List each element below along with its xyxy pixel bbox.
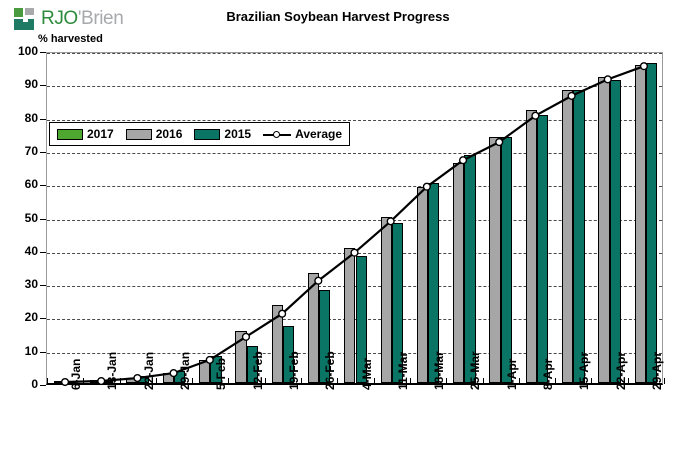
x-tick-label: 5-Feb bbox=[214, 358, 228, 390]
x-axis-tick bbox=[410, 378, 411, 384]
x-tick-label: 29-Jan bbox=[178, 352, 192, 390]
average-data-point[interactable] bbox=[641, 63, 648, 70]
x-tick-label: 12-Feb bbox=[251, 351, 265, 390]
average-data-point[interactable] bbox=[62, 379, 69, 386]
y-tick-label: 70 bbox=[0, 144, 38, 158]
average-data-point[interactable] bbox=[568, 93, 575, 100]
legend-label-average: Average bbox=[295, 127, 342, 141]
x-axis-tick bbox=[664, 378, 665, 384]
average-data-point[interactable] bbox=[604, 76, 611, 83]
average-data-point[interactable] bbox=[387, 218, 394, 225]
average-data-point[interactable] bbox=[532, 112, 539, 119]
y-axis-tick bbox=[40, 219, 46, 220]
legend-swatch-icon-2017 bbox=[57, 129, 83, 140]
x-tick-label: 22-Apr bbox=[614, 352, 628, 390]
chart-legend: 2017 2016 2015 Average bbox=[49, 122, 350, 146]
average-line-series bbox=[47, 53, 662, 383]
x-axis-tick bbox=[47, 378, 48, 384]
x-axis-tick bbox=[83, 378, 84, 384]
y-axis-tick bbox=[40, 185, 46, 186]
y-tick-label: 30 bbox=[0, 277, 38, 291]
legend-swatch-icon-2015 bbox=[194, 129, 220, 140]
legend-line-marker-icon-average bbox=[263, 129, 291, 140]
x-axis-tick bbox=[591, 378, 592, 384]
average-data-point[interactable] bbox=[460, 157, 467, 164]
y-axis-tick bbox=[40, 252, 46, 253]
legend-item-2017[interactable]: 2017 bbox=[57, 127, 114, 141]
x-axis-labels: 6-Jan13-Jan22-Jan29-Jan5-Feb12-Feb19-Feb… bbox=[46, 388, 663, 452]
x-tick-label: 19-Feb bbox=[287, 351, 301, 390]
x-axis-tick bbox=[483, 378, 484, 384]
x-axis-tick bbox=[120, 378, 121, 384]
y-tick-label: 50 bbox=[0, 211, 38, 225]
legend-label-2016: 2016 bbox=[156, 127, 183, 141]
x-tick-label: 8-Apr bbox=[541, 359, 555, 390]
x-tick-label: 15-Apr bbox=[577, 352, 591, 390]
average-data-point[interactable] bbox=[206, 357, 213, 364]
average-data-point[interactable] bbox=[243, 333, 250, 340]
x-tick-label: 4-Mar bbox=[360, 358, 374, 390]
x-tick-label: 25-Mar bbox=[468, 351, 482, 390]
x-tick-label: 26-Feb bbox=[323, 351, 337, 390]
x-tick-label: 11-Mar bbox=[396, 352, 410, 390]
x-axis-tick bbox=[555, 378, 556, 384]
legend-item-average[interactable]: Average bbox=[263, 127, 342, 141]
average-line-path bbox=[65, 66, 644, 382]
average-data-point[interactable] bbox=[351, 249, 358, 256]
y-tick-label: 0 bbox=[0, 377, 38, 391]
x-tick-label: 22-Jan bbox=[142, 352, 156, 390]
legend-swatch-icon-2016 bbox=[126, 129, 152, 140]
y-tick-label: 20 bbox=[0, 310, 38, 324]
y-tick-label: 40 bbox=[0, 244, 38, 258]
average-data-point[interactable] bbox=[496, 139, 503, 146]
y-axis-tick bbox=[40, 285, 46, 286]
y-axis-tick bbox=[40, 352, 46, 353]
x-axis-tick bbox=[301, 378, 302, 384]
legend-label-2015: 2015 bbox=[224, 127, 251, 141]
x-tick-label: 6-Jan bbox=[69, 359, 83, 390]
y-tick-label: 90 bbox=[0, 77, 38, 91]
legend-label-2017: 2017 bbox=[87, 127, 114, 141]
average-data-point[interactable] bbox=[279, 310, 286, 317]
legend-item-2015[interactable]: 2015 bbox=[194, 127, 251, 141]
x-axis-tick bbox=[228, 378, 229, 384]
x-axis-tick bbox=[337, 378, 338, 384]
y-axis-tick bbox=[40, 152, 46, 153]
average-data-point[interactable] bbox=[134, 375, 141, 382]
y-tick-label: 100 bbox=[0, 44, 38, 58]
y-tick-label: 10 bbox=[0, 344, 38, 358]
y-tick-label: 60 bbox=[0, 177, 38, 191]
y-axis-tick bbox=[40, 119, 46, 120]
average-data-point[interactable] bbox=[315, 277, 322, 284]
y-axis-tick bbox=[40, 52, 46, 53]
x-axis-tick bbox=[446, 378, 447, 384]
x-tick-label: 18-Mar bbox=[432, 351, 446, 390]
x-tick-label: 29-Apr bbox=[650, 352, 664, 390]
average-data-point[interactable] bbox=[170, 370, 177, 377]
chart-title: Brazilian Soybean Harvest Progress bbox=[0, 9, 676, 24]
x-tick-label: 13-Jan bbox=[105, 352, 119, 390]
legend-item-2016[interactable]: 2016 bbox=[126, 127, 183, 141]
y-axis-label: % harvested bbox=[38, 33, 103, 45]
average-data-point[interactable] bbox=[98, 378, 105, 385]
average-data-point[interactable] bbox=[423, 183, 430, 190]
y-axis-tick bbox=[40, 85, 46, 86]
y-axis-tick bbox=[40, 318, 46, 319]
x-axis-tick bbox=[156, 378, 157, 384]
y-axis-tick bbox=[40, 385, 46, 386]
x-tick-label: 1-Apr bbox=[505, 359, 519, 390]
x-axis-tick bbox=[192, 378, 193, 384]
y-tick-label: 80 bbox=[0, 111, 38, 125]
plot-area bbox=[46, 52, 663, 385]
